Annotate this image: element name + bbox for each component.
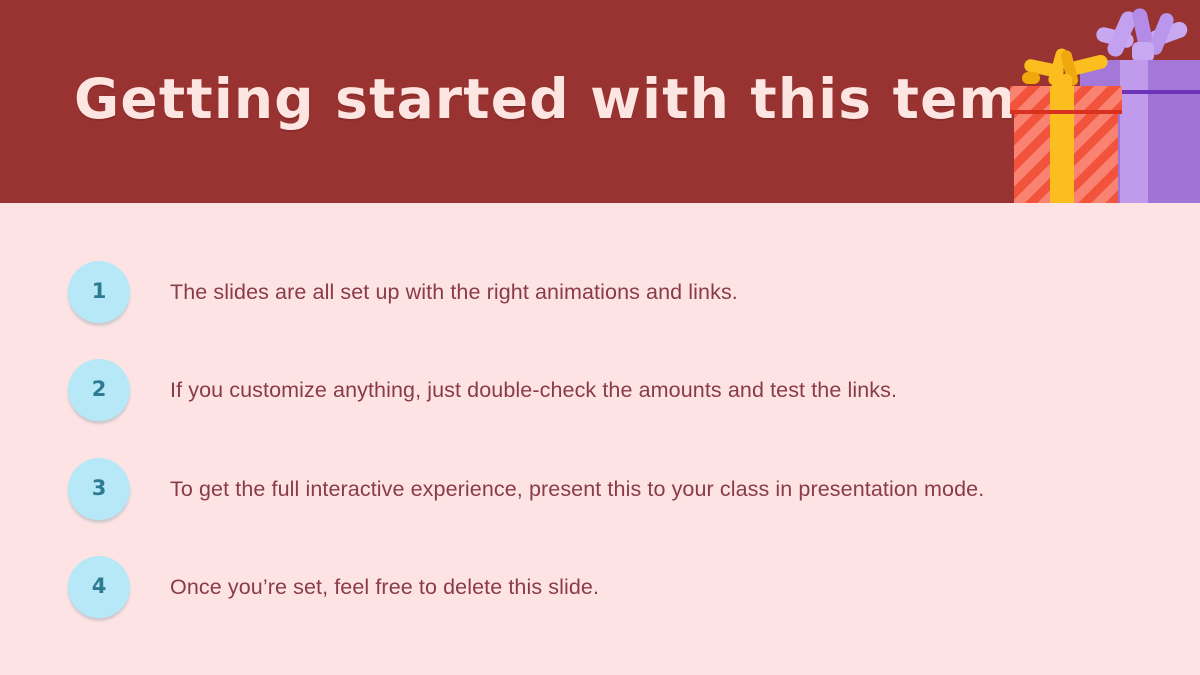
step-text: Once you’re set, feel free to delete thi… [170,556,599,618]
slide-header: Getting started with this template [0,0,1200,203]
slide-canvas: Getting started with this template [0,0,1200,675]
gift-illustration [1000,0,1200,203]
bow-knot [1132,42,1154,62]
step-number: 3 [92,478,107,499]
step-badge-3: 3 [68,458,130,520]
page-title: Getting started with this template [74,62,974,136]
list-item: 3 To get the full interactive experience… [0,458,1200,520]
step-number: 1 [92,281,107,302]
list-item: 2 If you customize anything, just double… [0,359,1200,421]
red-gift-lid-line [1010,110,1122,114]
step-badge-2: 2 [68,359,130,421]
steps-list: 1 The slides are all set up with the rig… [0,203,1200,675]
step-number: 2 [92,379,107,400]
step-number: 4 [92,576,107,597]
purple-gift-ribbon-band [1120,60,1148,203]
red-gift-ribbon-band [1050,86,1074,203]
list-item: 4 Once you’re set, feel free to delete t… [0,556,1200,618]
step-text: To get the full interactive experience, … [170,458,984,520]
step-text: If you customize anything, just double-c… [170,359,897,421]
step-badge-1: 1 [68,261,130,323]
list-item: 1 The slides are all set up with the rig… [0,261,1200,323]
step-text: The slides are all set up with the right… [170,261,738,323]
bow-tail-left [1022,72,1040,84]
step-badge-4: 4 [68,556,130,618]
